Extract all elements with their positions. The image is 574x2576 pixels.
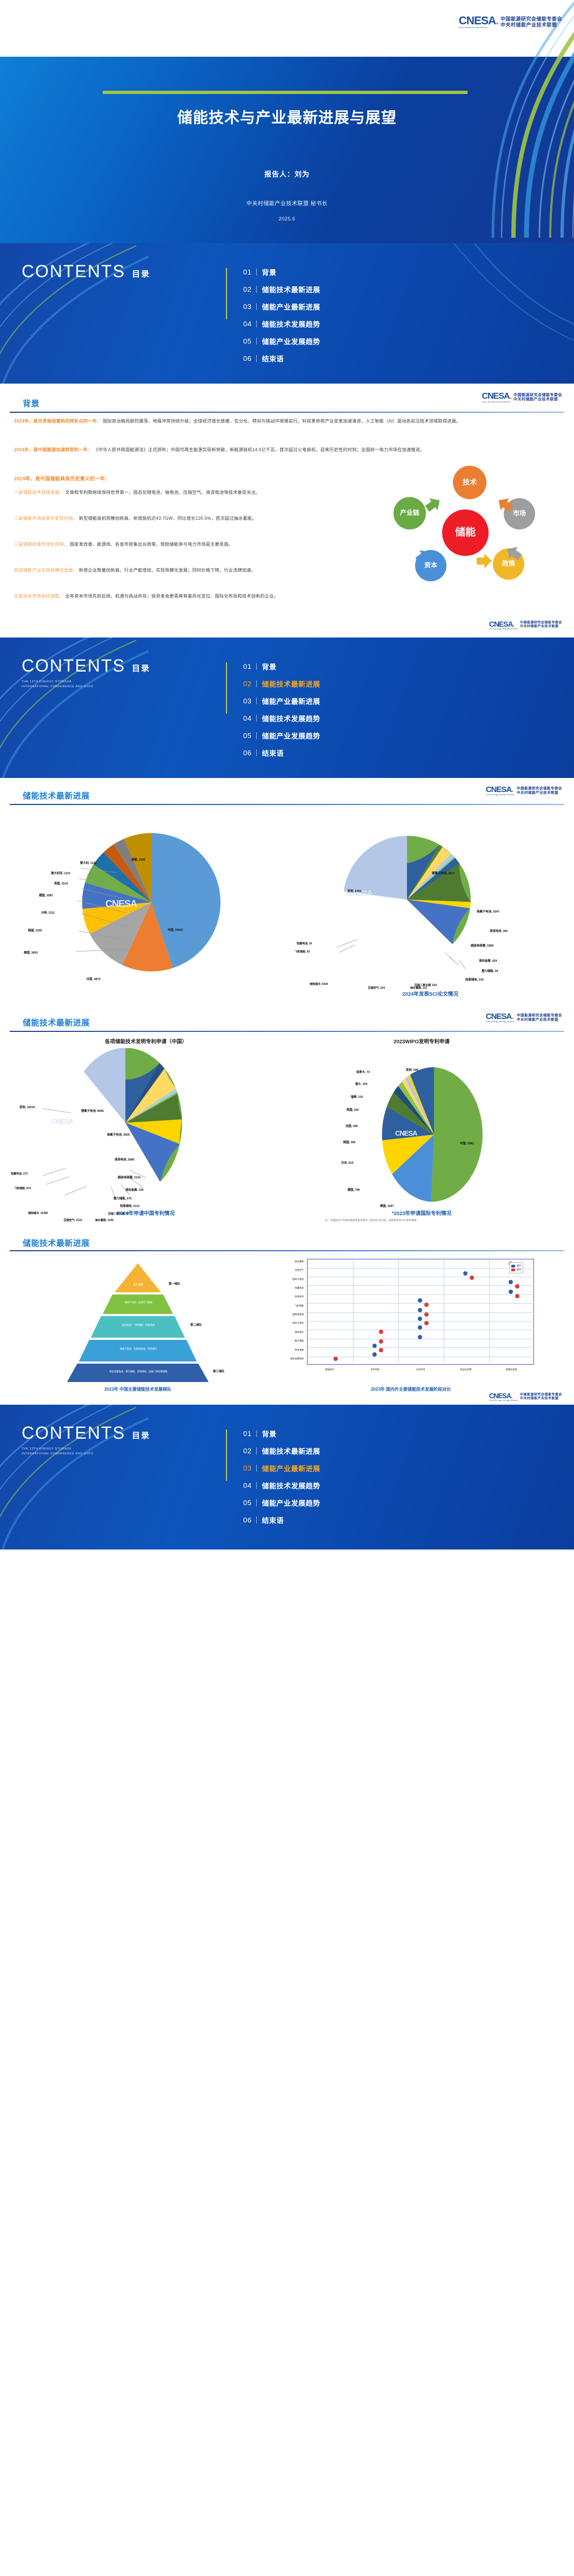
matrix-point — [372, 1344, 377, 1348]
matrix-ylabel-4: 液流电池 — [265, 1295, 304, 1298]
pie-label-italy: 意大利, 1115 — [80, 861, 97, 865]
contents-item-01[interactable]: 01 背景 — [243, 1428, 320, 1439]
matrix-ylabel-8: 储热储冷 — [265, 1331, 304, 1334]
contents-subtitle-line2: INTERNATIONAL CONFERENCE AND EXPO — [22, 1452, 205, 1457]
point-body: 文章和专利数继续保持世界第一，固态化锂电池、钠电池、压缩空气、液流电池等技术备受… — [65, 490, 261, 495]
contents-item-number: 04 — [243, 320, 251, 328]
contents-divider — [226, 268, 227, 319]
contents-item-label: 背景 — [262, 267, 276, 277]
matrix-xlabel-0: 基础研究 — [307, 1368, 352, 1371]
contents-item-bar — [256, 680, 257, 687]
matrix-point — [418, 1298, 422, 1303]
presenter-org: 中关村储能产业技术联盟 秘书长 — [0, 199, 574, 207]
contents-heading-en: CONTENTS — [22, 1423, 125, 1443]
pie-label-others: 其他, 508 — [406, 1068, 418, 1072]
contents-heading: CONTENTS 目录 — [22, 261, 205, 281]
pie-label-li-ion: 锂离子电池, 3517 — [432, 871, 455, 875]
matrix-ylabel-9: 重力储能 — [265, 1339, 304, 1343]
pie-label-sweden: 瑞典, 116 — [351, 1095, 363, 1099]
contents-item-02[interactable]: 02 储能技术最新进展 — [243, 1446, 320, 1456]
pie-label-caes: 压缩空气, 2122 — [64, 1218, 82, 1222]
section-rule — [10, 1031, 564, 1032]
logo-cn-line2: 中关村储能产业技术联盟 — [520, 1397, 562, 1401]
logo-sub-en: China Energy Storage Alliance — [486, 1021, 515, 1023]
point-lead: 一是储能技术快速发展。 — [14, 490, 64, 495]
contents-item-bar — [256, 355, 257, 362]
logo-cn-line1: 中国能源研究会储能专委会 — [520, 1393, 562, 1397]
matrix-point — [424, 1321, 429, 1325]
contents-item-label: 储能技术发展趋势 — [262, 319, 320, 329]
pie-label-flywheel: 飞轮储能, 874 — [14, 1186, 31, 1190]
contents-item-number: 03 — [243, 1464, 251, 1472]
paragraph-lead: 2024年，是中国能源加速转型的一年： — [14, 447, 92, 452]
matrix-gridline-h — [308, 1277, 535, 1277]
contents-item-label: 结束语 — [262, 1515, 284, 1525]
contents-item-number: 02 — [243, 1447, 251, 1455]
matrix-legend-item-foreign: 国外 — [511, 1264, 521, 1267]
slide-contents-2: CONTENTS 目录 THE 13TH ENERGY STORAGE INTE… — [0, 638, 574, 778]
logo-wordmark: CNESA. — [459, 15, 498, 26]
pie-label-liquid-metal: 液态金属, 139 — [125, 1188, 144, 1192]
logo-cn-line2: 中关村储能产业技术联盟 — [500, 22, 562, 28]
title-green-rule — [103, 91, 468, 94]
contents-item-bar — [256, 269, 257, 276]
contents-item-bar — [256, 1517, 257, 1524]
contents-item-bar — [256, 1430, 257, 1437]
pie-label-canada: 加拿大, 74 — [356, 1070, 370, 1074]
contents-item-label: 储能技术最新进展 — [262, 1446, 320, 1456]
contents-subtitle-line2: INTERNATIONAL CONFERENCE AND EXPO — [22, 685, 205, 689]
pie-label-supercapacitor: 超级电容器, 1858 — [471, 943, 493, 948]
matrix-legend: 国外 国内 — [509, 1262, 523, 1273]
pie-label-li-ion: 锂离子电池, 9095 — [81, 1109, 104, 1113]
pyramid-tier-2-text: 锂离子电池、压缩空气储能 — [103, 1301, 174, 1304]
contents-item-label: 储能产业发展趋势 — [262, 730, 320, 741]
contents-item-bar — [256, 1465, 257, 1472]
slide-contents-3: CONTENTS 目录 THE 13TH ENERGY STORAGE INTE… — [0, 1405, 574, 1549]
chart-title-china-patents: 各项储能技术发明专利申请（中国） — [38, 1037, 254, 1045]
chart-caption-wipo-patents: *2023年申请国际专利情况 — [324, 1209, 519, 1217]
logo-cn-line1: 中国能源研究会储能专委会 — [513, 393, 562, 398]
chart-sci-by-country: CNESA — [0, 808, 287, 986]
pie-label-korea: 韩国, 356 — [343, 1140, 356, 1144]
pie-label-gravity: 重力储能, 275 — [114, 1196, 132, 1200]
matrix-gridline-h — [308, 1357, 535, 1357]
matrix-point — [424, 1312, 429, 1317]
contents-subtitle: THE 13TH ENERGY STORAGE INTERNATIONAL CO… — [22, 1447, 205, 1457]
contents-list: 01 背景 02 储能技术最新进展 03 储能产业最新进展 04 — [205, 656, 320, 778]
pie-label-phs: 抽水蓄能, 1249 — [95, 1218, 114, 1222]
section-rule — [10, 804, 564, 805]
matrix-gridline-h — [308, 1330, 535, 1330]
contents-item-number: 05 — [243, 1499, 251, 1507]
point-body: 全年资本市场先抑后扬，机遇与挑战并存；投资者会更青睐有差异化定位、国际化布局和技… — [65, 594, 278, 599]
matrix-xlabel-1: 技术研发 — [352, 1368, 398, 1371]
contents-item-06[interactable]: 06 结束语 — [243, 1515, 320, 1525]
pie-label-flow-battery: 液流电池, 381 — [490, 929, 508, 933]
matrix-point — [470, 1276, 474, 1280]
contents-item-label: 储能产业最新进展 — [262, 1463, 320, 1473]
cnesa-logo: CNESA. China Energy Storage Alliance 中国能… — [459, 15, 562, 29]
matrix-gridline-h — [308, 1312, 535, 1313]
contents-item-number: 05 — [243, 732, 251, 740]
contents-heading-cn: 目录 — [132, 662, 150, 676]
pyramid-tier-5-text: 液态金属电池、重力储能、热泵储电、压缩二氧化碳储能 — [68, 1370, 209, 1373]
pie-label-china: 中国, 20025 — [168, 928, 183, 932]
contents-item-bar — [256, 286, 257, 293]
pyramid-tier-3-text: 液流电池、飞轮储能、铅蓄电池 — [92, 1324, 185, 1327]
contents-item-label: 储能产业发展趋势 — [262, 336, 320, 346]
logo-sub-en: China Energy Storage Alliance — [489, 1399, 518, 1401]
contents-item-06[interactable]: 06 结束语 — [243, 748, 320, 758]
chart-caption-china-patents: 2024年申请中国专利情况 — [43, 1209, 249, 1217]
matrix-ylabel-7: 钠离子电池 — [265, 1321, 304, 1325]
section-title: 储能技术最新进展 — [23, 790, 90, 801]
logo-cn-line2: 中关村储能产业技术联盟 — [517, 1018, 562, 1022]
contents-item-02[interactable]: 02 储能技术最新进展 — [243, 679, 320, 689]
paragraph-body: 国际政治格局剧烈震荡，地缘冲突持续升级；全球经济增长放缓，在分化、转向与挑战中艰… — [103, 419, 460, 424]
matrix-ylabel-1: 压缩空气 — [265, 1269, 304, 1272]
pie-label-japan: 日本, 619 — [341, 1160, 353, 1165]
pie-label-phs: 抽水蓄能, 131 — [410, 986, 427, 990]
logo-sub-en: China Energy Storage Alliance — [486, 794, 515, 796]
background-point-2: 二是储能市场迎来历史性时刻。 新型储能装机规模创新高，新增装机近43.7GW，同… — [14, 514, 360, 522]
section-title: 背景 — [23, 398, 39, 409]
history-lead-text: 2024年，是中国储能具有历史意义的一年： — [14, 476, 110, 481]
cnesa-logo: CNESA. China Energy Storage Alliance 中国能… — [486, 786, 562, 796]
pie-label-usa: 美国, 1067 — [380, 1204, 394, 1208]
logo-wordmark: CNESA. — [489, 1392, 518, 1399]
contents-item-label: 储能技术发展趋势 — [262, 1480, 320, 1491]
paragraph-body: 《中华人民共和国能源法》正式颁布；中国可再生能源实现新突破，新能源装机14.5亿… — [94, 447, 424, 452]
section-rule — [10, 412, 564, 413]
pie-label-flow-battery: 液流电池, 2686 — [115, 1157, 135, 1162]
contents-item-label: 结束语 — [262, 353, 284, 364]
contents-item-05[interactable]: 05 储能产业发展趋势 — [243, 1498, 320, 1508]
contents-item-bar — [256, 338, 257, 345]
legend-swatch-icon — [511, 1265, 515, 1267]
contents-item-04[interactable]: 04 储能技术发展趋势 — [243, 713, 320, 723]
background-point-1: 一是储能技术快速发展。 文章和专利数继续保持世界第一，固态化锂电池、钠电池、压缩… — [14, 488, 360, 497]
contents-item-number: 05 — [243, 337, 251, 345]
point-body: 新增企业数量创新高，行业产能增加，实现规模化发展；同时价格下降，行业洗牌加速。 — [79, 568, 256, 573]
contents-item-03[interactable]: 03 储能产业最新进展 — [243, 696, 320, 706]
contents-item-number: 06 — [243, 1516, 251, 1524]
contents-item-bar — [256, 749, 257, 756]
matrix-point — [509, 1280, 513, 1284]
matrix-gridline-h — [308, 1294, 535, 1295]
background-point-4: 四是储能产业实现规模化发展。 新增企业数量创新高，行业产能增加，实现规模化发展；… — [14, 566, 360, 574]
contents-heading-block: CONTENTS 目录 — [22, 261, 205, 384]
chart-sci-by-technology: CNESA — [287, 808, 574, 986]
contents-item-label: 储能产业发展趋势 — [262, 1498, 320, 1508]
section-rule — [10, 1250, 564, 1251]
contents-item-label: 储能技术发展趋势 — [262, 713, 320, 723]
matrix-ylabel-2: 锂离子电池 — [265, 1278, 304, 1281]
contents-heading-cn: 目录 — [132, 268, 150, 281]
logo-wordmark: CNESA. — [482, 392, 511, 401]
presenter-name: 报告人：刘为 — [0, 169, 574, 179]
pie-label-heat-pump: 热泵储电, 2121 — [120, 1204, 140, 1208]
legend-label: 国外 — [517, 1264, 521, 1267]
pie-label-australia: 澳大利亚, 1211 — [51, 871, 70, 875]
matrix-point — [463, 1271, 468, 1276]
matrix-gridline-h — [308, 1347, 535, 1348]
pie-label-germany: 德国, 1583 — [39, 893, 53, 897]
matrix-gridline-h — [308, 1268, 535, 1269]
chart-china-patents: CNESA — [0, 1048, 287, 1205]
background-point-5: 五是资本市场有所调整。 全年资本市场先抑后扬，机遇与挑战并存；投资者会更青睐有差… — [14, 592, 360, 600]
pie-label-uk: 英国, 1510 — [54, 881, 68, 886]
page-title: 储能技术与产业最新进展与展望 — [0, 106, 574, 128]
pyramid-tag-tier-1: 第一梯队 — [169, 1282, 181, 1286]
contents-heading-cn: 目录 — [132, 1430, 150, 1443]
logo-cn-line2: 中关村储能产业技术联盟 — [517, 791, 562, 795]
contents-item-number: 01 — [243, 662, 251, 670]
contents-item-number: 01 — [243, 268, 251, 276]
presentation-deck: CNESA. China Energy Storage Alliance 中国能… — [0, 0, 574, 1549]
contents-item-number: 01 — [243, 1430, 251, 1438]
matrix-ylabel-5: 飞轮储能 — [265, 1304, 304, 1307]
point-body: 新型储能装机规模创新高，新增装机近43.7GW，同比增长126.5%，首次超过抽… — [79, 516, 257, 521]
matrix-plot-area — [307, 1259, 534, 1365]
contents-item-01[interactable]: 01 背景 — [243, 661, 320, 672]
chart-caption-matrix: 2023年 国内外主要储能技术发展阶段对比 — [265, 1386, 557, 1392]
matrix-point — [515, 1294, 519, 1298]
pyramid-tier-4-text: 钠离子电池、超级电容器、储热储冷 — [80, 1347, 197, 1351]
pie-label-india: 印度, 4873 — [86, 977, 101, 981]
logo-wordmark: CNESA. — [486, 786, 515, 794]
logo-wordmark: CNESA. — [489, 620, 518, 628]
background-point-3: 三是储能政策市场化加快。 国家发改委、能源局、各省市密集出台政策，鼓励储能参与电… — [14, 540, 360, 548]
slide-tech-sci: CNESA. China Energy Storage Alliance 中国能… — [0, 778, 574, 1005]
contents-item-label: 储能技术最新进展 — [262, 679, 320, 689]
contents-item-number: 06 — [243, 354, 251, 363]
matrix-legend-item-domestic: 国内 — [511, 1268, 521, 1271]
pyramid-tag-tier-2: 第二梯队 — [190, 1323, 202, 1327]
cnesa-logo: CNESA. China Energy Storage Alliance 中国能… — [482, 392, 562, 403]
chart-tech-stage-matrix: 抽水蓄能 压缩空气 锂离子电池 铅蓄电池 液流电池 飞轮储能 超级电容器 钠离子… — [265, 1257, 568, 1386]
pie-label-heat-pump: 热泵储电, 234 — [465, 977, 484, 982]
matrix-point — [418, 1317, 422, 1321]
cnesa-logo: CNESA. China Energy Storage Alliance 中国能… — [486, 1012, 562, 1023]
logo-cn-line1: 中国能源研究会储能专委会 — [517, 787, 562, 790]
contents-item-label: 背景 — [262, 1428, 276, 1439]
pie-label-others: 其他, 6465 — [348, 889, 362, 893]
contents-item-number: 03 — [243, 303, 251, 311]
chart-caption-pyramid: 2023年 中国主要储能技术发展梯队 — [16, 1386, 259, 1392]
contents-item-05[interactable]: 05 储能产业发展趋势 — [243, 336, 320, 346]
contents-item-bar — [256, 715, 257, 722]
matrix-ylabel-3: 铅蓄电池 — [265, 1286, 304, 1290]
matrix-point — [379, 1330, 383, 1334]
contents-item-label: 背景 — [262, 661, 276, 672]
matrix-xlabel-3: 商业化初期 — [443, 1368, 489, 1371]
contents-item-04[interactable]: 04 储能技术发展趋势 — [243, 319, 320, 329]
pie-label-gravity: 重力储能, 59 — [482, 969, 498, 973]
contents-item-06[interactable]: 06 结束语 — [243, 353, 320, 364]
chart-title-wipo-patents: 2023WIPO发明专利申请 — [324, 1037, 519, 1045]
point-body: 国家发改委、能源局、各省市密集出台政策，鼓励储能参与电力市场是主要思路。 — [70, 542, 233, 547]
background-paragraph-2: 2024年，是中国能源加速转型的一年： 《中华人民共和国能源法》正式颁布；中国可… — [14, 446, 561, 454]
section-title: 储能技术最新进展 — [23, 1237, 90, 1249]
contents-heading-block: CONTENTS 目录 THE 13TH ENERGY STORAGE INTE… — [22, 656, 205, 778]
matrix-point — [515, 1284, 519, 1289]
contents-heading-en: CONTENTS — [22, 656, 125, 676]
legend-label: 国内 — [517, 1268, 521, 1271]
contents-item-label: 结束语 — [262, 748, 284, 758]
matrix-xlabel-4: 规模化发展 — [489, 1368, 534, 1371]
contents-item-bar — [256, 732, 257, 739]
matrix-point — [509, 1290, 513, 1294]
contents-item-label: 储能产业最新进展 — [262, 301, 320, 312]
matrix-point — [379, 1348, 383, 1352]
pie-label-china: 中国, 2981 — [460, 1141, 474, 1145]
diagram-center-label: 储能 — [455, 527, 476, 539]
matrix-gridline-h — [308, 1285, 535, 1286]
section-title: 储能技术最新进展 — [23, 1017, 90, 1028]
contents-divider — [226, 1430, 227, 1481]
pie-label-uk: 英国, 150 — [346, 1108, 359, 1112]
logo-cn-line1: 中国能源研究会储能专委会 — [520, 621, 562, 625]
contents-subtitle: THE 13TH ENERGY STORAGE INTERNATIONAL CO… — [22, 680, 205, 689]
pie-label-flywheel: 飞轮储能, 83 — [295, 950, 310, 954]
pie-label-france: 法国, 189 — [345, 1124, 358, 1128]
slide-background: CNESA. China Energy Storage Alliance 中国能… — [0, 384, 574, 638]
pie-label-korea: 韩国, 2255 — [28, 928, 42, 933]
matrix-point — [333, 1357, 338, 1361]
contents-item-bar — [256, 1482, 257, 1489]
contents-heading: CONTENTS 目录 — [22, 656, 205, 676]
contents-item-label: 储能技术最新进展 — [262, 284, 320, 294]
contents-subtitle-line1: THE 13TH ENERGY STORAGE — [22, 1447, 205, 1452]
pie-label-na-ion: 钠离子电池, 1647 — [477, 909, 499, 914]
paragraph-lead: 2024年，是世界格局重构的转折点的一年： — [14, 419, 102, 424]
matrix-gridline-h — [308, 1321, 535, 1321]
pie-label-switzerland: 瑞士, 104 — [355, 1082, 368, 1086]
point-lead: 二是储能市场迎来历史性时刻。 — [14, 516, 77, 521]
contents-item-number: 02 — [243, 680, 251, 688]
cnesa-logo-footer: CNESA. China Energy Storage Alliance 中国能… — [489, 1392, 562, 1401]
matrix-point — [418, 1335, 422, 1339]
background-paragraph-1: 2024年，是世界格局重构的转折点的一年： 国际政治格局剧烈震荡，地缘冲突持续升… — [14, 417, 561, 425]
chart-footnote: *注：中国知识产权局因数据审查等原因一般延迟1年左右，故使用有的2022年的数据 — [324, 1219, 540, 1222]
contents-item-03[interactable]: 03 储能产业最新进展 — [243, 301, 320, 312]
contents-item-02[interactable]: 02 储能技术最新进展 — [243, 284, 320, 294]
matrix-point — [418, 1308, 422, 1312]
matrix-xlabel-2: 示范应用 — [398, 1368, 443, 1371]
matrix-point — [379, 1339, 383, 1344]
pie-label-thermal: 储热储冷, 4344 — [310, 982, 328, 986]
pie-label-iran: 伊朗, 1042 — [131, 857, 145, 862]
pie-label-saudi: 沙特, 2111 — [41, 910, 55, 915]
chart-caption-sci: 2024年发表SCI论文情况 — [303, 990, 558, 997]
pie-label-na-ion: 钠离子电池, 3609 — [107, 1132, 130, 1137]
contents-subtitle-line1: THE 13TH ENERGY STORAGE — [22, 680, 205, 685]
point-lead: 三是储能政策市场化加快。 — [14, 542, 69, 547]
contents-item-03[interactable]: 03 储能产业最新进展 — [243, 1463, 320, 1473]
logo-sub-en: China Energy Storage Alliance — [489, 628, 518, 630]
slide-title: CNESA. China Energy Storage Alliance 中国能… — [0, 0, 574, 243]
contents-list: 01 背景 02 储能技术最新进展 03 储能产业最新进展 04 — [205, 261, 320, 384]
contents-heading: CONTENTS 目录 — [22, 1423, 205, 1443]
logo-cn-line1: 中国能源研究会储能专委会 — [500, 16, 562, 22]
matrix-point — [424, 1303, 429, 1307]
matrix-ylabel-10: 热泵储电 — [265, 1349, 304, 1352]
history-lead: 2024年，是中国储能具有历史意义的一年： — [14, 474, 110, 484]
chart-tech-pyramid: 抽水蓄能 锂离子电池、压缩空气储能 液流电池、飞轮储能、铅蓄电池 钠离子电池、超… — [16, 1259, 259, 1383]
slide-contents-1: CONTENTS 目录 01 背景 02 储能技术最新进展 03 — [0, 243, 574, 384]
pie-label-supercapacitor: 超级电容器, 2134 — [118, 1175, 141, 1179]
matrix-point — [372, 1352, 377, 1357]
pyramid-tier-1-text: 抽水蓄能 — [114, 1283, 163, 1286]
legend-swatch-icon — [511, 1269, 515, 1271]
contents-item-bar — [256, 663, 257, 670]
matrix-gridline-h — [308, 1303, 535, 1304]
pie-label-others: 其他, 16015 — [19, 1105, 35, 1109]
pie-label-lead-acid: 铅蓄电池, 275 — [11, 1172, 28, 1176]
slide-tech-patents: CNESA. China Energy Storage Alliance 中国能… — [0, 1005, 574, 1226]
cnesa-logo-footer: CNESA. China Energy Storage Alliance 中国能… — [489, 620, 562, 630]
contents-item-bar — [256, 1499, 257, 1506]
contents-item-bar — [256, 303, 257, 310]
contents-heading-en: CONTENTS — [22, 261, 125, 281]
logo-cn-line2: 中关村储能产业技术联盟 — [520, 625, 562, 629]
contents-item-number: 02 — [243, 285, 251, 293]
pie-label-usa: 美国, 3693 — [24, 950, 38, 955]
logo-cn-line1: 中国能源研究会储能专委会 — [517, 1014, 562, 1017]
logo-sub-en: China Energy Storage Alliance — [482, 401, 511, 403]
matrix-ylabel-0: 抽水蓄能 — [265, 1260, 304, 1263]
pie-label-caes: 压缩空气, 234 — [368, 986, 385, 990]
matrix-ylabel-6: 超级电容器 — [265, 1313, 304, 1316]
contents-heading-block: CONTENTS 目录 THE 13TH ENERGY STORAGE INTE… — [22, 1423, 205, 1549]
diagram-node-center-storage: 储能 — [442, 509, 489, 556]
matrix-point — [418, 1325, 422, 1330]
point-lead: 四是储能产业实现规模化发展。 — [14, 568, 77, 573]
matrix-ylabel-11: 液态金属电池 — [265, 1357, 304, 1360]
contents-item-bar — [256, 320, 257, 327]
pyramid-tag-tier-3: 第三梯队 — [213, 1369, 225, 1373]
pie-label-liquid-metal: 液态金属, 424 — [479, 958, 497, 963]
contents-item-number: 04 — [243, 1481, 251, 1490]
contents-item-05[interactable]: 05 储能产业发展趋势 — [243, 730, 320, 741]
contents-item-bar — [256, 1447, 257, 1454]
slide-tech-maturity: 储能技术最新进展 抽水蓄能 锂离子电池、压缩空气储能 液流电池、飞轮储能、铅蓄电… — [0, 1226, 574, 1405]
contents-list: 01 背景 02 储能技术最新进展 03 储能产业最新进展 04 — [205, 1423, 320, 1549]
contents-item-number: 06 — [243, 749, 251, 757]
contents-item-04[interactable]: 04 储能技术发展趋势 — [243, 1480, 320, 1491]
pie-label-germany: 德国, 796 — [348, 1188, 360, 1192]
pie-label-lead-acid: 铅蓄电池, 24 — [297, 942, 312, 945]
logo-wordmark: CNESA. — [486, 1012, 515, 1021]
presentation-date: 2025.6 — [0, 216, 574, 222]
point-lead: 五是资本市场有所调整。 — [14, 594, 64, 599]
contents-item-bar — [256, 697, 257, 705]
contents-item-number: 04 — [243, 714, 251, 722]
contents-item-01[interactable]: 01 背景 — [243, 267, 320, 277]
contents-divider — [226, 662, 227, 714]
logo-cn-line2: 中关村储能产业技术联盟 — [513, 398, 562, 402]
contents-item-label: 储能产业最新进展 — [262, 696, 320, 706]
contents-item-number: 03 — [243, 697, 251, 705]
chart-wipo-patents: CNESA 加拿大, 74 其他, 508 瑞士, 104 — [287, 1048, 574, 1205]
